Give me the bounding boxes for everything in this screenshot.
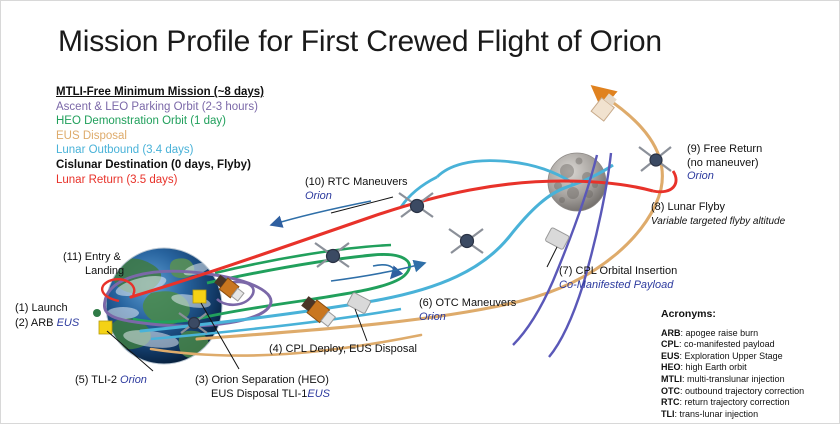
legend-header: MTLI-Free Minimum Mission (~8 days) xyxy=(56,85,264,100)
callout-tli2-vehicle: Orion xyxy=(120,374,147,386)
orion-icon-otc xyxy=(449,229,483,253)
callout-cpl-deploy: (4) CPL Deploy, EUS Disposal xyxy=(269,343,417,357)
callout-rtc: (10) RTC Maneuvers Orion xyxy=(305,176,408,203)
acronym-def: outbound trajectory correction xyxy=(685,386,804,396)
callout-entry-landing-line2: Landing xyxy=(85,265,124,279)
acronym-key: CPL xyxy=(661,339,679,349)
callout-orion-separation-vehicle: EUS xyxy=(307,388,330,400)
acronym-key: MTLI xyxy=(661,374,682,384)
callout-orion-separation-line1: (3) Orion Separation (HEO) xyxy=(195,374,329,386)
legend-item-return: Lunar Return (3.5 days) xyxy=(56,173,264,188)
acronym-row: CPL: co-manifested payload xyxy=(661,339,804,351)
callout-otc: (6) OTC Maneuvers Orion xyxy=(419,297,516,324)
callout-launch: (1) Launch xyxy=(15,302,68,316)
callout-orion-separation-line2: EUS Disposal TLI-1 xyxy=(211,388,307,402)
legend-item-ascent: Ascent & LEO Parking Orbit (2-3 hours) xyxy=(56,100,264,115)
callout-free-return-line1: (9) Free Return xyxy=(687,143,762,155)
acronym-sep: : xyxy=(680,351,683,361)
acronym-sep: : xyxy=(681,328,684,338)
acronyms-heading: Acronyms: xyxy=(661,309,804,321)
callout-cpl-insertion-vehicle: Co-Manifested Payload xyxy=(559,279,673,291)
diagram-canvas: Mission Profile for First Crewed Flight … xyxy=(0,0,840,424)
acronym-row: RTC: return trajectory correction xyxy=(661,397,804,409)
acronym-def: trans-lunar injection xyxy=(680,409,759,419)
callout-lunar-flyby-line1: (8) Lunar Flyby xyxy=(651,201,725,213)
acronym-row: ARB: apogee raise burn xyxy=(661,328,804,340)
legend-item-heo: HEO Demonstration Orbit (1 day) xyxy=(56,114,264,129)
acronym-sep: : xyxy=(682,374,685,384)
acronym-def: return trajectory correction xyxy=(685,397,790,407)
callout-tli2-text: (5) TLI-2 xyxy=(75,374,120,386)
acronym-def: co-manifested payload xyxy=(684,339,775,349)
callout-arb: (2) ARB EUS xyxy=(15,317,79,331)
acronym-row: HEO: high Earth orbit xyxy=(661,362,804,374)
acronym-sep: : xyxy=(675,409,678,419)
acronym-row: OTC: outbound trajectory correction xyxy=(661,386,804,398)
acronym-def: Exploration Upper Stage xyxy=(685,351,783,361)
callout-free-return: (9) Free Return (no maneuver) Orion xyxy=(687,143,762,184)
acronym-sep: : xyxy=(680,386,683,396)
callout-entry-landing-line1: (11) Entry & xyxy=(63,251,121,263)
callout-free-return-line2: (no maneuver) xyxy=(687,157,759,169)
callout-entry-landing: (11) Entry & Landing xyxy=(63,251,124,278)
acronym-key: TLI xyxy=(661,409,675,419)
acronym-key: OTC xyxy=(661,386,680,396)
callout-free-return-vehicle: Orion xyxy=(687,170,714,182)
acronym-key: EUS xyxy=(661,351,680,361)
acronym-sep: : xyxy=(681,362,684,372)
callout-otc-vehicle: Orion xyxy=(419,311,446,323)
acronyms-block: Acronyms: ARB: apogee raise burn CPL: co… xyxy=(661,309,804,420)
acronym-def: apogee raise burn xyxy=(686,328,759,338)
cpl-deploy-icon xyxy=(347,292,371,314)
callout-lunar-flyby-note: Variable targeted flyby altitude xyxy=(651,216,785,227)
callout-lunar-flyby: (8) Lunar Flyby Variable targeted flyby … xyxy=(651,201,785,228)
acronym-row: MTLI: multi-translunar injection xyxy=(661,374,804,386)
acronym-row: EUS: Exploration Upper Stage xyxy=(661,351,804,363)
legend-item-outbound: Lunar Outbound (3.4 days) xyxy=(56,143,264,158)
acronym-key: RTC xyxy=(661,397,680,407)
callout-otc-line1: (6) OTC Maneuvers xyxy=(419,297,516,309)
callout-cpl-insertion-line1: (7) CPL Orbital Insertion xyxy=(559,265,677,277)
legend-item-eus: EUS Disposal xyxy=(56,129,264,144)
orion-icon-heo xyxy=(315,243,349,267)
legend-item-cislunar: Cislunar Destination (0 days, Flyby) xyxy=(56,158,264,173)
acronym-key: HEO xyxy=(661,362,681,372)
callout-tli2: (5) TLI-2 Orion xyxy=(75,374,147,388)
acronym-sep: : xyxy=(680,397,683,407)
callout-orion-separation: (3) Orion Separation (HEO) EUS Disposal … xyxy=(195,374,330,401)
acronym-row: TLI: trans-lunar injection xyxy=(661,409,804,421)
acronym-def: high Earth orbit xyxy=(686,362,747,372)
callout-cpl-insertion: (7) CPL Orbital Insertion Co-Manifested … xyxy=(559,265,677,292)
callout-rtc-vehicle: Orion xyxy=(305,190,332,202)
acronym-def: multi-translunar injection xyxy=(687,374,785,384)
callout-arb-vehicle: EUS xyxy=(57,317,80,329)
callout-arb-text: (2) ARB xyxy=(15,317,57,329)
acronym-key: ARB xyxy=(661,328,681,338)
mission-legend: MTLI-Free Minimum Mission (~8 days) Asce… xyxy=(56,85,264,187)
acronym-sep: : xyxy=(679,339,682,349)
callout-rtc-line1: (10) RTC Maneuvers xyxy=(305,176,408,188)
